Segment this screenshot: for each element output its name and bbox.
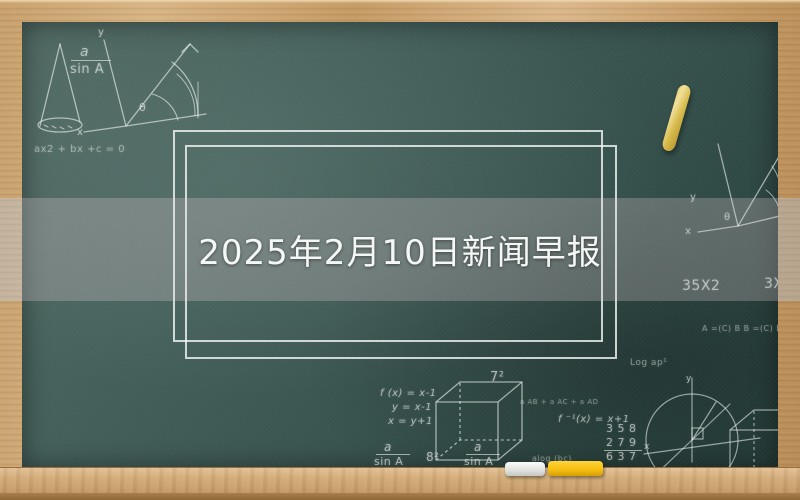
chalk-sum-addend-2: 2 7 9 <box>606 436 637 449</box>
chalk-cube-center <box>424 380 564 468</box>
chalk-axis-y-label-1: y <box>98 27 104 38</box>
chalk-circle-axis-y: y <box>686 374 692 384</box>
chalk-quadratic-equation: ax2 + bx +c = 0 <box>34 144 125 155</box>
page-title: 2025年2月10日新闻早报 <box>0 198 800 301</box>
chalk-fraction-bar <box>71 60 111 61</box>
chalk-fx-line-1: f (x) = x-1 <box>380 388 437 399</box>
chalk-8-squared: 8² <box>426 450 439 464</box>
chalk-fx-line-2: y = x-1 <box>392 402 432 413</box>
yellow-chalk-stick-ledge <box>548 461 603 476</box>
chalk-sum-total: 6 3 7 <box>606 450 637 463</box>
chalk-ledge <box>0 467 800 500</box>
chalk-axis-x-label-1: x <box>77 127 83 138</box>
chalk-a-numerator: a <box>80 44 89 60</box>
chalk-a-numerator-3: a <box>474 440 482 454</box>
chalk-sina-denominator: sin A <box>70 62 104 77</box>
chalk-fraction-bar-3 <box>466 454 500 455</box>
chalk-7-squared: 7² <box>490 370 504 385</box>
ledge-lip <box>0 493 800 500</box>
chalk-f-inverse: f ⁻¹(x) = x+1 <box>558 414 630 425</box>
chalk-ab-ac-ad: a AB + a AC + a AD <box>520 398 599 406</box>
chalk-abc-row: A =(C) B B =(C) B B =(C) B <box>702 324 778 333</box>
chalk-sum-bar <box>604 450 642 451</box>
chalk-log-ap: Log ap¹ <box>630 358 667 368</box>
frame-top-highlight <box>0 0 800 4</box>
chalk-fraction-bar-2 <box>376 454 410 455</box>
chalk-angle-theta-1: θ <box>139 101 146 114</box>
chalk-diagram-circle <box>634 352 778 468</box>
chalk-a-numerator-2: a <box>384 440 392 454</box>
chalk-circle-axis-x: x <box>644 442 650 452</box>
chalkboard-poster: a sin A ax2 + bx +c = 0 y x θ y x θ <box>0 0 800 500</box>
chalk-cube-right <box>722 404 778 468</box>
white-chalk-stick-ledge <box>505 462 545 476</box>
chalk-sum-addend-1: 3 5 8 <box>606 422 637 435</box>
chalk-fx-line-3: x = y+1 <box>388 416 433 427</box>
